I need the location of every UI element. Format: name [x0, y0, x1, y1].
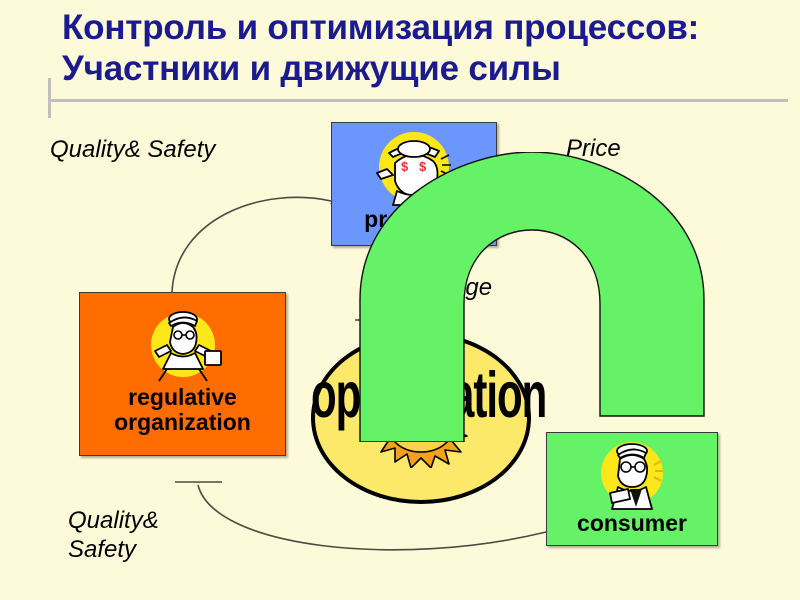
green-arch-arrow	[352, 152, 712, 442]
customer-shopping-icon	[592, 437, 672, 511]
actor-box-regulative-organization[interactable]: regulative organization	[79, 292, 286, 456]
actor-label-regulative-organization: regulative organization	[80, 385, 285, 435]
inspector-briefcase-icon	[137, 301, 229, 383]
label-quality-safety-bottom: Quality& Safety	[68, 506, 159, 565]
actor-box-consumer[interactable]: consumer	[546, 432, 718, 546]
label-quality-safety-top: Quality& Safety	[50, 135, 215, 164]
slide-canvas: Контроль и оптимизация процессов: Участн…	[0, 0, 800, 600]
green-arch-shape	[360, 152, 704, 442]
connector-regulative-producer	[172, 197, 331, 292]
actor-label-consumer: consumer	[547, 511, 717, 536]
